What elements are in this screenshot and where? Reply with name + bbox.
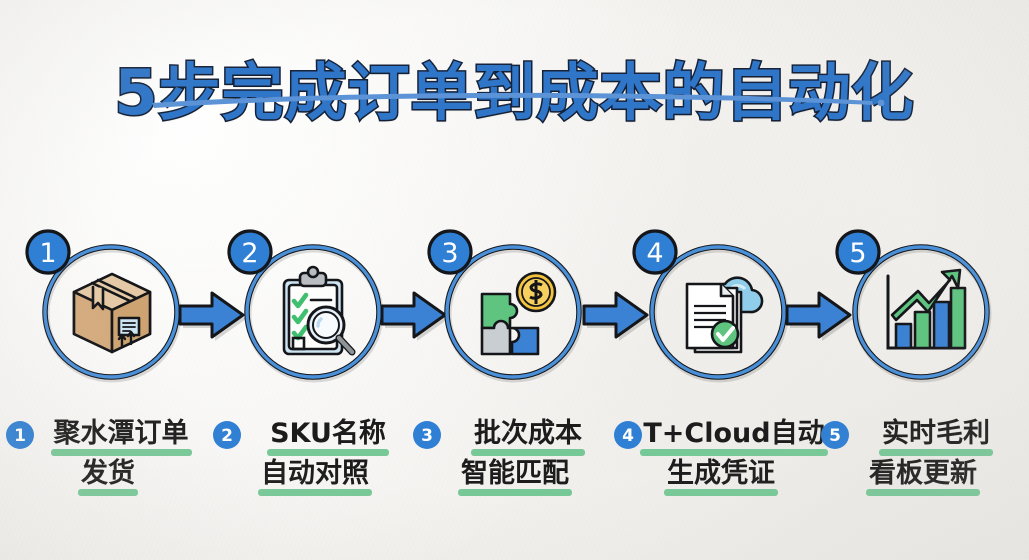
caption-3-highlight-2 — [458, 489, 572, 496]
caption-number-text-1: 1 — [14, 426, 26, 446]
caption-4-line-2-text: 生成凭证 — [667, 458, 775, 489]
step-number-badge-5: 5 — [834, 228, 884, 278]
step-number-text-4: 4 — [646, 238, 663, 269]
caption-4-line-1: T+Cloud自动 — [643, 414, 824, 454]
step-number-text-2: 2 — [241, 238, 258, 269]
caption-number-badge-4: 4 — [613, 420, 643, 450]
caption-3-line-2: 智能匹配 — [461, 454, 569, 494]
caption-4-line-1-text: T+Cloud自动 — [643, 418, 824, 449]
step-number-text-3: 3 — [441, 238, 458, 269]
flow-step-1[interactable]: 1 — [30, 232, 190, 408]
caption-2-highlight-2 — [258, 489, 372, 496]
caption-1-line-2-row: 发货 — [5, 454, 211, 494]
caption-number-text-2: 2 — [221, 426, 233, 446]
caption-1: 1 聚水潭订单 发货 — [5, 414, 211, 494]
caption-4-line-2-row: 生成凭证 — [613, 454, 829, 494]
caption-5-line-1-text: 实时毛利 — [882, 418, 990, 449]
caption-2-line-1-text: SKU名称 — [270, 418, 386, 449]
caption-5-line-2-row: 看板更新 — [820, 454, 1026, 494]
caption-5-highlight-2 — [866, 489, 980, 496]
caption-1-line-1-row: 1 聚水潭订单 — [5, 414, 211, 454]
caption-5-line-2-text: 看板更新 — [869, 458, 977, 489]
flow-step-5[interactable]: 5 — [840, 232, 1000, 408]
caption-4-highlight-2 — [664, 489, 778, 496]
flow-step-4[interactable]: 4 — [637, 232, 797, 408]
caption-number-text-4: 4 — [622, 426, 634, 446]
flow-step-2[interactable]: 2 — [232, 232, 392, 408]
caption-5-line-1-row: 5 实时毛利 — [820, 414, 1026, 454]
cloud-documents-check-icon — [669, 262, 769, 362]
caption-2-line-1: SKU名称 — [270, 414, 386, 454]
title-underline-stroke — [148, 88, 888, 110]
caption-4-line-1-row: 4 T+Cloud自动 — [613, 414, 829, 454]
caption-number-text-5: 5 — [829, 426, 841, 446]
caption-3-line-1: 批次成本 — [474, 414, 582, 454]
step-number-text-5: 5 — [849, 238, 866, 269]
clipboard-checklist-magnifier-icon — [264, 262, 364, 362]
caption-5: 5 实时毛利 看板更新 — [820, 414, 1026, 494]
caption-3-line-2-text: 智能匹配 — [461, 458, 569, 489]
caption-1-line-1: 聚水潭订单 — [54, 414, 189, 454]
step-number-badge-4: 4 — [631, 228, 681, 278]
caption-number-badge-3: 3 — [412, 420, 442, 450]
caption-3-line-1-row: 3 批次成本 — [412, 414, 618, 454]
step-number-badge-3: 3 — [426, 228, 476, 278]
caption-number-badge-5: 5 — [820, 420, 850, 450]
caption-2-line-2: 自动对照 — [261, 454, 369, 494]
caption-1-line-2-text: 发货 — [81, 458, 135, 489]
caption-2-line-2-text: 自动对照 — [261, 458, 369, 489]
caption-1-highlight-2 — [78, 489, 138, 496]
process-flow: 1 — [0, 232, 1029, 412]
step-number-text-1: 1 — [39, 238, 56, 269]
caption-2: 2 SKU名称 自动对照 — [212, 414, 418, 494]
caption-3-line-1-text: 批次成本 — [474, 418, 582, 449]
caption-row: 1 聚水潭订单 发货 2 SKU名称 — [0, 414, 1029, 526]
step-number-badge-1: 1 — [24, 228, 74, 278]
caption-4-line-2: 生成凭证 — [667, 454, 775, 494]
caption-number-badge-2: 2 — [212, 420, 242, 450]
caption-1-line-2: 发货 — [81, 454, 135, 494]
caption-2-line-1-row: 2 SKU名称 — [212, 414, 418, 454]
caption-2-line-2-row: 自动对照 — [212, 454, 418, 494]
caption-1-line-1-text: 聚水潭订单 — [54, 418, 189, 449]
caption-5-line-2: 看板更新 — [869, 454, 977, 494]
caption-number-badge-1: 1 — [5, 420, 35, 450]
caption-3: 3 批次成本 智能匹配 — [412, 414, 618, 494]
flow-step-3[interactable]: 3 — [432, 232, 592, 408]
caption-5-line-1: 实时毛利 — [882, 414, 990, 454]
caption-number-text-3: 3 — [421, 426, 433, 446]
bar-chart-growth-arrow-icon — [872, 262, 972, 362]
puzzle-pieces-coin-icon — [464, 262, 564, 362]
caption-3-line-2-row: 智能匹配 — [412, 454, 618, 494]
package-box-icon — [62, 262, 162, 362]
step-number-badge-2: 2 — [226, 228, 276, 278]
caption-4: 4 T+Cloud自动 生成凭证 — [613, 414, 829, 494]
